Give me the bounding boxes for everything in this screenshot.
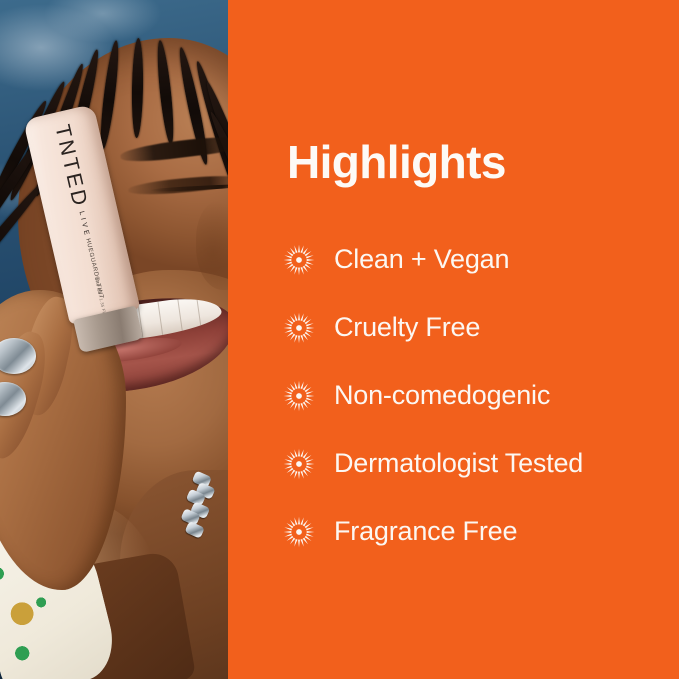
highlights-list: Clean + Vegan — [283, 226, 663, 566]
highlight-label: Dermatologist Tested — [334, 449, 583, 479]
sunburst-icon — [283, 312, 315, 344]
highlight-label: Fragrance Free — [334, 517, 517, 547]
list-item: Clean + Vegan — [283, 226, 663, 294]
list-item: Non-comedogenic — [283, 362, 663, 430]
page-title: Highlights — [287, 139, 506, 185]
highlight-label: Clean + Vegan — [334, 245, 509, 275]
sunburst-icon — [283, 516, 315, 548]
product-highlights-banner: TNTED LIVE HUEGUARD® TINT SPF 50 40 mL /… — [0, 0, 679, 679]
sunburst-icon — [283, 380, 315, 412]
highlight-label: Cruelty Free — [334, 313, 480, 343]
tube-subbrand-label: LIVE — [78, 211, 91, 239]
list-item: Fragrance Free — [283, 498, 663, 566]
list-item: Dermatologist Tested — [283, 430, 663, 498]
sunburst-icon — [283, 244, 315, 276]
highlights-panel: Highlights — [228, 0, 679, 679]
sunburst-icon — [283, 448, 315, 480]
product-lifestyle-photo: TNTED LIVE HUEGUARD® TINT SPF 50 40 mL /… — [0, 0, 228, 679]
list-item: Cruelty Free — [283, 294, 663, 362]
tube-brand-label: TNTED — [49, 122, 92, 210]
highlight-label: Non-comedogenic — [334, 381, 550, 411]
